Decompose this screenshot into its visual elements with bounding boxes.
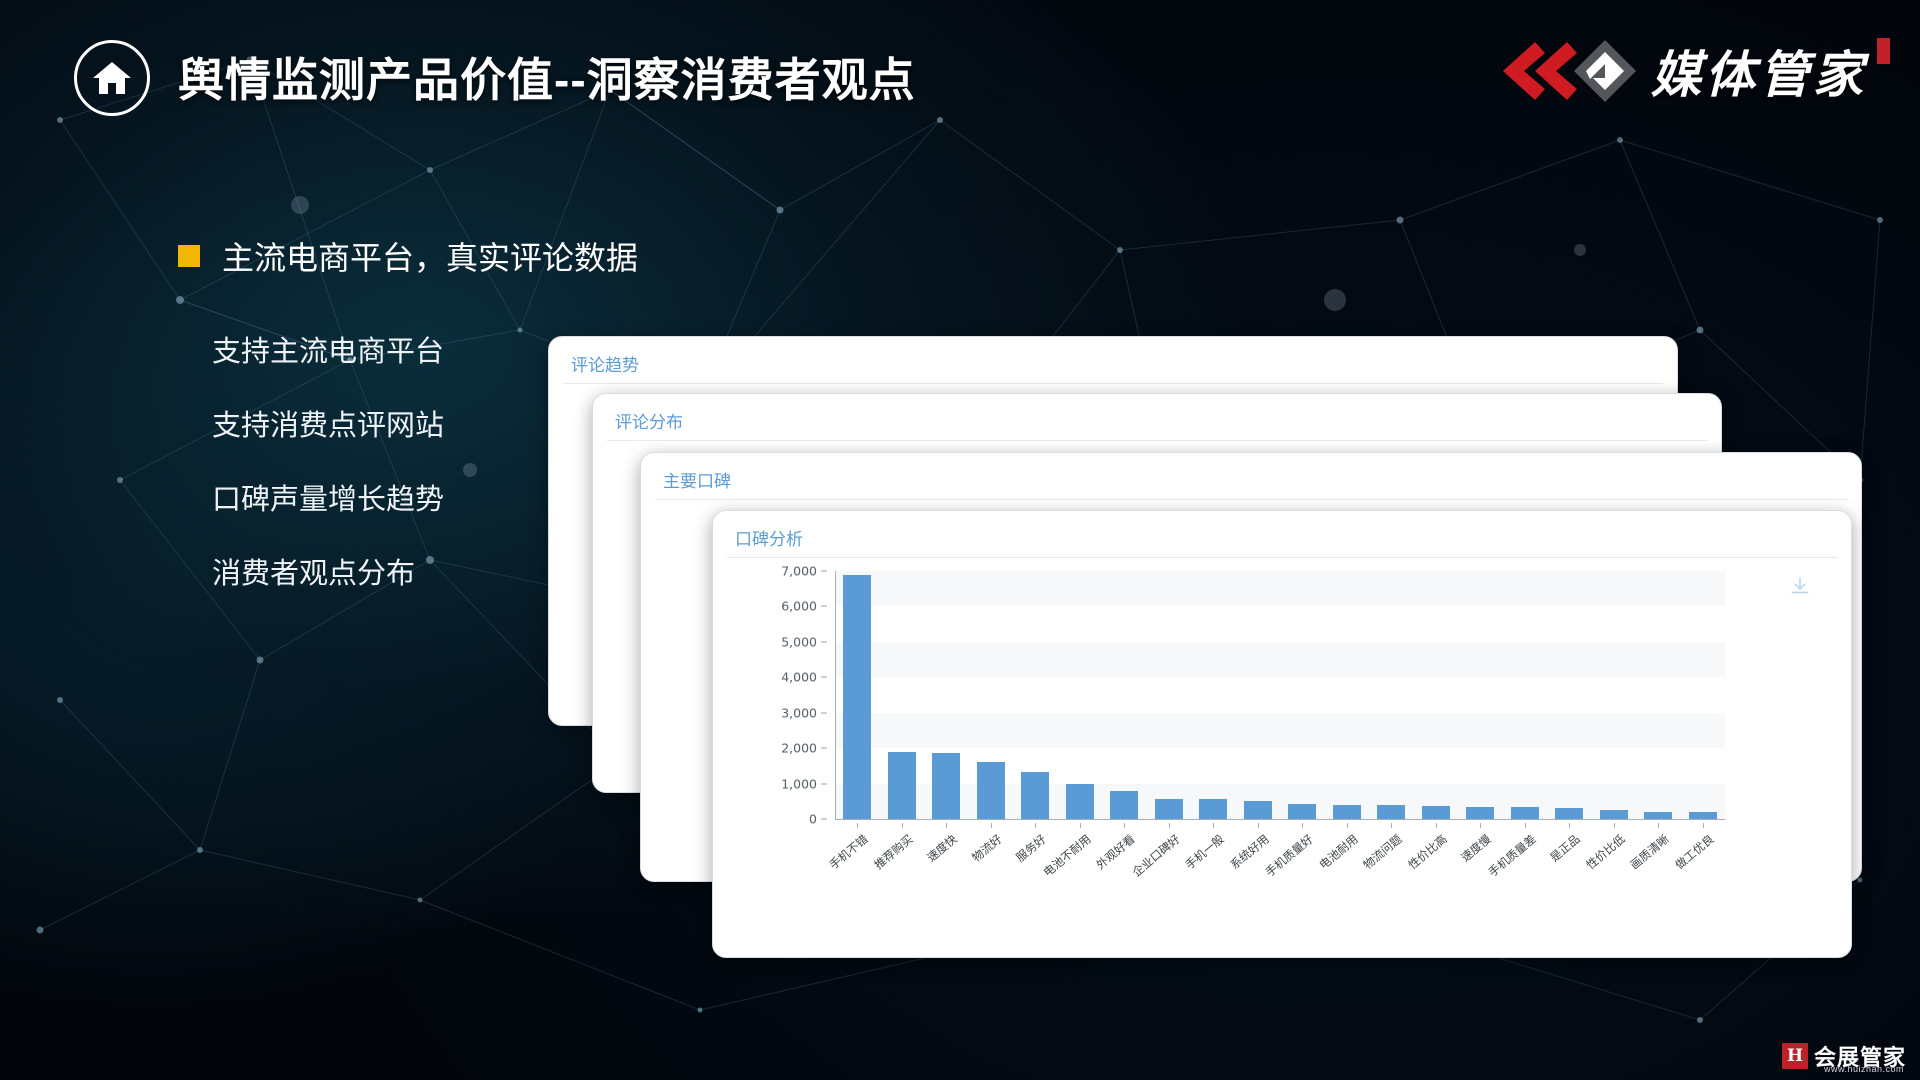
bar[interactable] [1555, 808, 1583, 819]
card-divider [607, 440, 1707, 441]
bar[interactable] [1511, 807, 1539, 819]
bar-slot [1458, 571, 1503, 819]
x-axis-tick-label: 服务好 [1013, 831, 1050, 865]
bar[interactable] [843, 575, 871, 819]
bar-slot [1681, 571, 1726, 819]
x-axis-tick-mark [857, 823, 858, 828]
bar[interactable] [1021, 772, 1049, 819]
x-axis-tick-mark [1347, 823, 1348, 828]
bar-slot [880, 571, 925, 819]
bar-slot [924, 571, 969, 819]
bar-slot [1503, 571, 1548, 819]
x-axis-tick-mark [1569, 823, 1570, 828]
x-axis-line [835, 819, 1725, 820]
x-axis-tick-mark [902, 823, 903, 828]
y-axis-tick-label: 1,000 [781, 776, 817, 791]
bar[interactable] [1288, 804, 1316, 819]
x-axis-tick-mark [1436, 823, 1437, 828]
card-divider [563, 383, 1663, 384]
list-item: 口碑声量增长趋势 [212, 476, 444, 518]
x-axis-tick-label: 手机一般 [1182, 831, 1228, 873]
bar-slot [1369, 571, 1414, 819]
x-axis-labels: 手机不错推荐购买速度快物流好服务好电池不耐用外观好看企业口碑好手机一般系统好用手… [835, 823, 1725, 913]
card-title: 口碑分析 [735, 525, 803, 550]
x-axis-tick-label: 电池不耐用 [1040, 831, 1094, 880]
watermark-badge-icon: H [1782, 1043, 1808, 1069]
x-axis-tick-mark [946, 823, 947, 828]
bullet-main-label: 主流电商平台，真实评论数据 [222, 233, 638, 279]
card-reputation-analysis[interactable]: 口碑分析 01,0002,0003,0004,0005,0006,0007,00… [712, 510, 1852, 958]
bar[interactable] [1333, 805, 1361, 819]
bar-slot [1636, 571, 1681, 819]
card-title: 评论趋势 [571, 351, 639, 376]
x-axis-tick-label: 速度慢 [1458, 831, 1495, 865]
y-axis-tick-mark [821, 606, 827, 607]
bar-slot [1102, 571, 1147, 819]
y-axis-tick-label: 3,000 [781, 705, 817, 720]
x-axis-tick-label: 手机质量差 [1485, 831, 1539, 880]
x-axis-tick-label: 做工优良 [1672, 831, 1718, 873]
bar-slot [1147, 571, 1192, 819]
x-axis-tick-mark [1658, 823, 1659, 828]
bar[interactable] [1066, 784, 1094, 819]
y-axis-tick-mark [821, 677, 827, 678]
y-axis-tick-label: 6,000 [781, 599, 817, 614]
bar[interactable] [1244, 801, 1272, 819]
bar-slot [1280, 571, 1325, 819]
y-axis-tick-mark [821, 819, 827, 820]
x-axis-tick-mark [991, 823, 992, 828]
y-axis-tick-label: 5,000 [781, 634, 817, 649]
x-axis-tick-label: 速度快 [924, 831, 961, 865]
y-axis-tick-mark [821, 641, 827, 642]
card-title: 主要口碑 [663, 467, 731, 492]
x-axis-tick-label: 是正品 [1547, 831, 1584, 865]
bar-slot [969, 571, 1014, 819]
double-chevron-diamond-logo-icon [1493, 36, 1643, 106]
card-divider [655, 499, 1847, 500]
x-axis-tick-label: 手机不错 [826, 831, 872, 873]
bar-slot [835, 571, 880, 819]
y-axis-tick-mark [821, 748, 827, 749]
x-axis-tick-mark [1703, 823, 1704, 828]
x-axis-tick-label: 物流问题 [1360, 831, 1406, 873]
x-axis-tick-mark [1035, 823, 1036, 828]
bar-slot [1058, 571, 1103, 819]
bar[interactable] [1422, 806, 1450, 819]
bar-slot [1191, 571, 1236, 819]
bar-series [835, 571, 1725, 819]
x-axis-tick-mark [1080, 823, 1081, 828]
bar[interactable] [1689, 812, 1717, 819]
x-axis-tick-mark [1258, 823, 1259, 828]
home-icon[interactable] [74, 40, 150, 116]
x-axis-tick-label: 手机质量好 [1262, 831, 1316, 880]
x-axis-tick-mark [1124, 823, 1125, 828]
x-axis-tick-label: 画质清晰 [1627, 831, 1673, 873]
bar-chart: 01,0002,0003,0004,0005,0006,0007,000 手机不… [727, 561, 1839, 949]
bar-slot [1592, 571, 1637, 819]
x-axis-tick-mark [1391, 823, 1392, 828]
x-axis-tick-mark [1480, 823, 1481, 828]
x-axis-tick-mark [1302, 823, 1303, 828]
bar[interactable] [1377, 805, 1405, 819]
bar[interactable] [1466, 807, 1494, 819]
x-axis-tick-label: 企业口碑好 [1129, 831, 1183, 880]
list-item: 支持消费点评网站 [212, 402, 444, 444]
x-axis-tick-label: 电池耐用 [1316, 831, 1362, 873]
y-axis-tick-label: 7,000 [781, 564, 817, 579]
brand-seal-icon [1877, 38, 1890, 64]
y-axis-tick-mark [821, 783, 827, 784]
download-icon[interactable] [1789, 575, 1811, 602]
bullet-square-icon [178, 245, 200, 267]
x-axis-tick-mark [1213, 823, 1214, 828]
bar[interactable] [1155, 799, 1183, 819]
brand-logo: 媒体管家 [1493, 32, 1890, 110]
bar-slot [1236, 571, 1281, 819]
list-item: 消费者观点分布 [212, 550, 444, 592]
page-title: 舆情监测产品价值--洞察消费者观点 [178, 44, 916, 110]
bar-slot [1325, 571, 1370, 819]
bar-slot [1414, 571, 1459, 819]
y-axis-tick-mark [821, 712, 827, 713]
y-axis-tick-label: 2,000 [781, 741, 817, 756]
bar[interactable] [1644, 812, 1672, 819]
y-axis: 01,0002,0003,0004,0005,0006,0007,000 [727, 571, 827, 819]
y-axis-tick-label: 4,000 [781, 670, 817, 685]
bar[interactable] [977, 762, 1005, 819]
brand-name: 媒体管家 [1651, 35, 1867, 107]
sub-feature-list: 支持主流电商平台 支持消费点评网站 口碑声量增长趋势 消费者观点分布 [212, 328, 444, 592]
bar[interactable] [1110, 791, 1138, 819]
x-axis-tick-label: 性价比低 [1583, 831, 1629, 873]
bar-slot [1547, 571, 1592, 819]
list-item: 支持主流电商平台 [212, 328, 444, 370]
card-title: 评论分布 [615, 408, 683, 433]
bar-slot [1013, 571, 1058, 819]
x-axis-tick-mark [1525, 823, 1526, 828]
x-axis-tick-mark [1614, 823, 1615, 828]
x-axis-tick-label: 推荐购买 [871, 831, 917, 873]
watermark-url: www.huizhan.com [1824, 1064, 1904, 1074]
bar[interactable] [1199, 799, 1227, 819]
bar[interactable] [888, 752, 916, 819]
x-axis-tick-label: 物流好 [968, 831, 1005, 865]
x-axis-tick-mark [1169, 823, 1170, 828]
slide-header: 舆情监测产品价值--洞察消费者观点 媒体管家 [0, 0, 1920, 150]
bullet-main: 主流电商平台，真实评论数据 [178, 233, 638, 279]
x-axis-tick-label: 性价比高 [1405, 831, 1451, 873]
bar[interactable] [1600, 810, 1628, 819]
y-axis-tick-label: 0 [809, 812, 817, 827]
bar[interactable] [932, 753, 960, 819]
card-divider [727, 557, 1837, 558]
y-axis-tick-mark [821, 571, 827, 572]
watermark: H 会展管家 www.huizhan.com [1782, 1040, 1906, 1072]
home-glyph [91, 58, 133, 98]
